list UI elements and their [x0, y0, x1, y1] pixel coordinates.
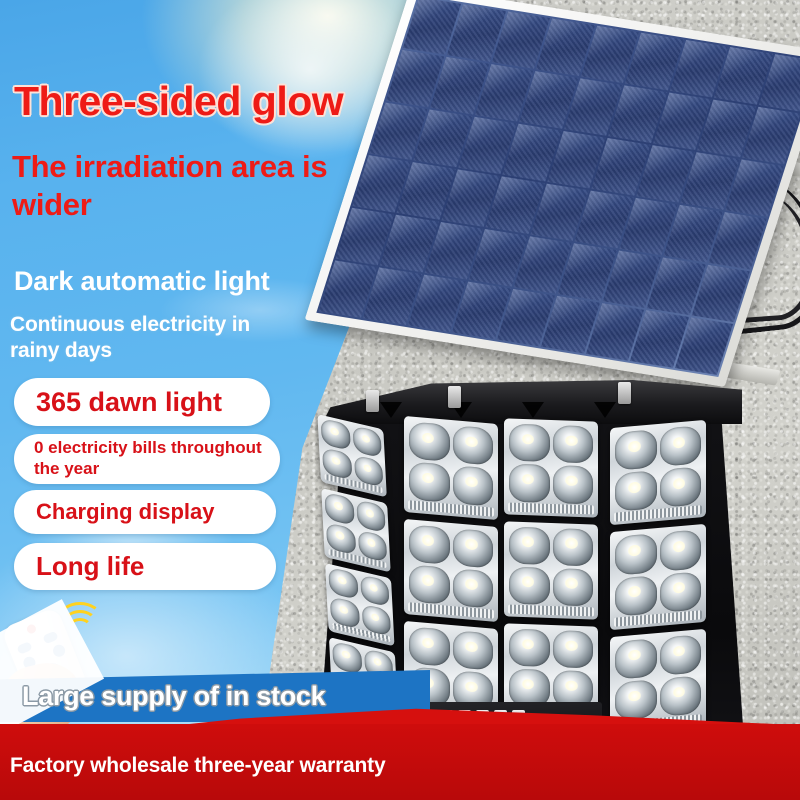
led-lens — [453, 528, 494, 569]
led-lens — [660, 530, 702, 572]
led-lens — [509, 629, 550, 668]
ribbon-stock-text: Large supply of in stock — [22, 681, 325, 712]
led-lens — [409, 626, 450, 667]
led-module — [610, 524, 706, 630]
led-lens — [615, 533, 657, 575]
led-lens — [328, 567, 358, 600]
led-lens — [324, 492, 354, 525]
led-lens — [553, 465, 594, 504]
led-lens — [615, 575, 657, 617]
subheadline: The irradiation area is wider — [12, 148, 342, 224]
led-lens — [453, 630, 494, 671]
led-lens — [553, 528, 594, 567]
led-lens — [321, 418, 351, 451]
led-lens — [660, 634, 702, 676]
led-lens — [660, 571, 702, 613]
headline: Three-sided glow — [14, 78, 343, 125]
led-module — [321, 488, 390, 572]
mounting-clip — [366, 390, 379, 412]
led-module — [404, 416, 498, 520]
led-lens — [509, 464, 550, 503]
ribbon-warranty-text: Factory wholesale three-year warranty — [10, 754, 385, 778]
mounting-clip — [448, 386, 461, 408]
solar-cell-grid — [316, 0, 800, 377]
led-lens — [615, 638, 657, 680]
lamp-top-cover — [322, 380, 742, 424]
led-lens — [332, 641, 362, 674]
heat-fins — [508, 604, 594, 616]
led-lens — [409, 462, 450, 503]
heat-fins — [508, 502, 594, 514]
badge-charging-display: Charging display — [14, 490, 276, 534]
led-lens — [509, 566, 550, 605]
feature-dark-auto: Dark automatic light — [14, 266, 270, 297]
led-module — [504, 521, 598, 620]
led-lens — [409, 421, 450, 462]
led-module — [325, 563, 394, 647]
led-lens — [360, 574, 390, 607]
mounting-clip — [618, 382, 631, 404]
led-lens — [615, 679, 657, 721]
badge-zero-bills: 0 electricity bills throughout the year — [14, 434, 280, 484]
led-lens — [660, 425, 702, 467]
led-lens — [453, 425, 494, 466]
led-lens — [615, 470, 657, 512]
led-lens — [553, 425, 594, 464]
led-module — [504, 418, 598, 517]
led-lens — [660, 466, 702, 508]
led-module — [610, 420, 706, 526]
led-module — [404, 518, 498, 622]
feature-rainy-days: Continuous electricity in rainy days — [10, 312, 300, 364]
solar-panel — [305, 0, 800, 387]
chevron-vent-icon — [594, 402, 616, 418]
led-lens — [409, 564, 450, 605]
led-lens — [615, 429, 657, 471]
badge-label: Long life — [36, 551, 144, 582]
badge-label: 0 electricity bills throughout the year — [34, 438, 280, 479]
led-lens — [509, 526, 550, 565]
chevron-vent-icon — [380, 402, 402, 418]
led-lens — [453, 465, 494, 506]
badge-365-dawn-light: 365 dawn light — [14, 378, 270, 426]
led-lens — [409, 524, 450, 565]
led-lens — [553, 630, 594, 669]
led-lens — [453, 568, 494, 609]
led-lens — [553, 568, 594, 607]
badge-long-life: Long life — [14, 543, 276, 590]
chevron-vent-icon — [522, 402, 544, 418]
badge-label: 365 dawn light — [36, 387, 222, 418]
badge-label: Charging display — [36, 499, 214, 525]
led-lens — [356, 500, 386, 533]
led-lens — [509, 424, 550, 463]
product-advertisement-poster: ❧❧❧ Solar Light IP65 Three-sided glow Th… — [0, 0, 800, 800]
led-lens — [660, 675, 702, 717]
solar-panel-photo — [318, 8, 798, 388]
led-lens — [352, 425, 382, 458]
